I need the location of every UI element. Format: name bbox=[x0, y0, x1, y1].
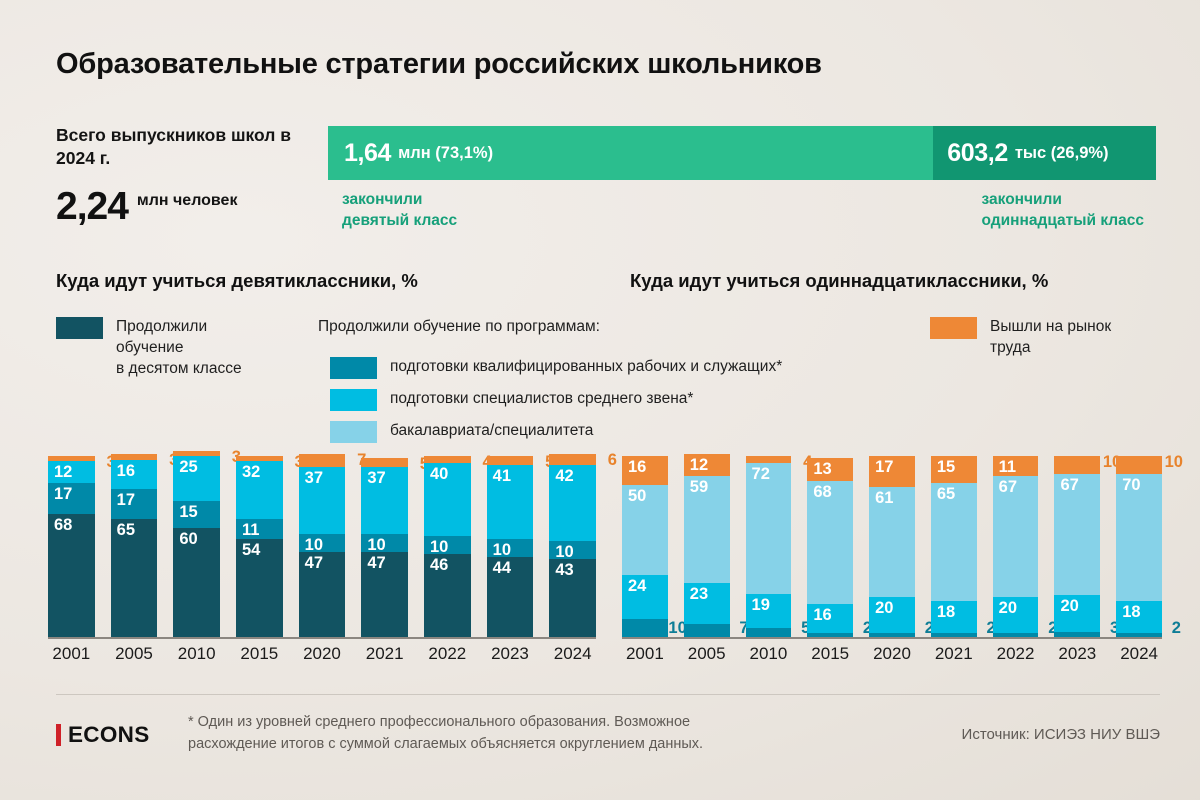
bar-value-label: 12 bbox=[54, 464, 72, 481]
bar-segment: 4 bbox=[424, 456, 471, 463]
bar-segment: 24 bbox=[622, 575, 668, 618]
bar-segment: 16 bbox=[622, 456, 668, 485]
page-title: Образовательные стратегии российских шко… bbox=[56, 48, 822, 81]
bar-grade11-2001: 16502410 bbox=[622, 456, 668, 637]
bar-segment: 32 bbox=[236, 461, 283, 519]
split-bar-segment-grade11: 603,2 тыс (26,9%) bbox=[933, 126, 1156, 180]
bar-segment: 18 bbox=[1116, 601, 1162, 634]
bar-segment: 25 bbox=[173, 456, 220, 501]
chart-grade11: 1650241012592374721951368162176120215651… bbox=[622, 456, 1162, 656]
bar-value-label: 10 bbox=[555, 544, 573, 561]
bar-value-label: 11 bbox=[999, 459, 1016, 476]
bar-segment: 54 bbox=[236, 539, 283, 637]
bar-value-label: 47 bbox=[367, 555, 385, 572]
bar-grade11-2022: 1167202 bbox=[993, 456, 1039, 637]
legend-item-labour: Вышли на рынок труда bbox=[930, 316, 1160, 358]
x-axis-label: 2001 bbox=[48, 644, 95, 664]
bar-segment: 41 bbox=[487, 465, 534, 539]
bar-value-label: 24 bbox=[628, 578, 646, 595]
legend-item-bachelor: бакалавриата/специалитета bbox=[330, 420, 593, 443]
bar-value-label: 59 bbox=[690, 479, 708, 496]
x-axis-label: 2015 bbox=[807, 644, 853, 664]
bar-segment: 10 bbox=[549, 541, 596, 559]
x-axis-label: 2023 bbox=[487, 644, 534, 664]
bar-segment: 17 bbox=[111, 489, 158, 520]
footnote: * Один из уровней среднего профессиональ… bbox=[188, 712, 868, 756]
bar-value-label: 70 bbox=[1122, 477, 1140, 494]
bar-value-label: 23 bbox=[690, 586, 708, 603]
legend-item-midspec: подготовки специалистов среднего звена* bbox=[330, 388, 693, 411]
x-axis-label: 2024 bbox=[549, 644, 596, 664]
bar-segment: 5 bbox=[746, 628, 792, 637]
legend-swatch-midspec bbox=[330, 389, 377, 411]
bar-value-label: 32 bbox=[242, 464, 260, 481]
split-bar-right-value: 603,2 bbox=[947, 139, 1008, 168]
bar-segment: 67 bbox=[1054, 474, 1100, 595]
legend-swatch-bachelor bbox=[330, 421, 377, 443]
legend-swatch-labour bbox=[930, 317, 977, 339]
bar-segment: 50 bbox=[622, 485, 668, 576]
totals-unit: млн человек bbox=[137, 188, 238, 211]
bar-value-label: 72 bbox=[752, 466, 770, 483]
bar-value-label: 10 bbox=[367, 537, 385, 554]
bar-value-label: 2 bbox=[1172, 620, 1181, 637]
bar-segment: 59 bbox=[684, 476, 730, 583]
x-axis-label: 2010 bbox=[746, 644, 792, 664]
bar-segment: 47 bbox=[299, 552, 346, 637]
bar-segment: 5 bbox=[487, 456, 534, 465]
bar-segment: 67 bbox=[993, 476, 1039, 597]
bar-grade11-2015: 1368162 bbox=[807, 458, 853, 637]
bar-value-label: 60 bbox=[179, 531, 197, 548]
legend-label-bachelor: бакалавриата/специалитета bbox=[390, 420, 593, 441]
bar-segment: 2 bbox=[993, 633, 1039, 637]
bar-value-label: 16 bbox=[628, 459, 646, 476]
bar-segment: 7 bbox=[299, 454, 346, 467]
bar-segment: 68 bbox=[807, 481, 853, 604]
split-bar-left-caption: закончили девятый класс bbox=[342, 190, 457, 232]
bar-segment: 10 bbox=[622, 619, 668, 637]
bar-value-label: 13 bbox=[813, 461, 831, 478]
legend-swatch-workers bbox=[330, 357, 377, 379]
bar-segment: 72 bbox=[746, 463, 792, 593]
x-axis-label: 2024 bbox=[1116, 644, 1162, 664]
bar-value-label: 18 bbox=[937, 604, 955, 621]
x-axis-label: 2022 bbox=[424, 644, 471, 664]
chart-grade9-xlabels: 200120052010201520202021202220232024 bbox=[48, 639, 596, 665]
x-axis-label: 2005 bbox=[684, 644, 730, 664]
x-axis-label: 2023 bbox=[1054, 644, 1100, 664]
x-axis-label: 2015 bbox=[236, 644, 283, 664]
bar-value-label: 20 bbox=[875, 600, 893, 617]
bar-segment: 2 bbox=[807, 633, 853, 637]
bar-segment: 37 bbox=[299, 467, 346, 534]
bar-grade11-2005: 1259237 bbox=[684, 454, 730, 637]
bar-segment: 10 bbox=[361, 534, 408, 552]
bar-segment: 23 bbox=[684, 583, 730, 625]
bar-segment: 10 bbox=[1116, 456, 1162, 474]
bar-segment: 37 bbox=[361, 467, 408, 534]
bar-segment: 44 bbox=[487, 557, 534, 637]
bar-value-label: 11 bbox=[242, 522, 259, 539]
totals-label: Всего выпускников школ в 2024 г. bbox=[56, 124, 316, 170]
bar-value-label: 47 bbox=[305, 555, 323, 572]
bar-segment: 17 bbox=[48, 483, 95, 514]
bar-value-label: 65 bbox=[117, 522, 135, 539]
bar-segment: 11 bbox=[993, 456, 1039, 476]
footer-divider bbox=[56, 694, 1160, 695]
bar-segment: 10 bbox=[487, 539, 534, 557]
bar-value-label: 10 bbox=[493, 542, 511, 559]
bar-value-label: 67 bbox=[999, 479, 1017, 496]
source-label: Источник: ИСИЭЗ НИУ ВШЭ bbox=[962, 726, 1160, 743]
bar-segment: 10 bbox=[1054, 456, 1100, 474]
split-bar-right-unit: тыс (26,9%) bbox=[1015, 144, 1109, 163]
totals-number: 2,24 bbox=[56, 188, 128, 225]
bar-segment: 16 bbox=[807, 604, 853, 633]
split-bar-right-caption: закончили одиннадцатый класс bbox=[982, 190, 1144, 232]
bar-segment: 16 bbox=[111, 460, 158, 489]
bar-value-label: 16 bbox=[813, 607, 831, 624]
chart-grade11-plot: 1650241012592374721951368162176120215651… bbox=[622, 456, 1162, 639]
bar-segment: 68 bbox=[48, 514, 95, 637]
bar-value-label: 16 bbox=[117, 463, 135, 480]
x-axis-label: 2021 bbox=[931, 644, 977, 664]
legend-swatch-grade10 bbox=[56, 317, 103, 339]
bar-segment: 15 bbox=[173, 501, 220, 528]
bar-value-label: 10 bbox=[430, 539, 448, 556]
bar-segment: 46 bbox=[424, 554, 471, 637]
bar-grade9-2015: 3321154 bbox=[236, 456, 283, 637]
logo-accent-bar bbox=[56, 724, 61, 746]
bar-value-label: 37 bbox=[367, 470, 385, 487]
x-axis-label: 2022 bbox=[993, 644, 1039, 664]
bar-value-label: 20 bbox=[999, 600, 1017, 617]
bar-value-label: 67 bbox=[1060, 477, 1078, 494]
bar-value-label: 37 bbox=[305, 470, 323, 487]
bar-segment: 43 bbox=[549, 559, 596, 637]
bar-segment: 11 bbox=[236, 519, 283, 539]
bar-segment: 40 bbox=[424, 463, 471, 535]
bar-segment: 17 bbox=[869, 456, 915, 487]
bar-value-label: 46 bbox=[430, 557, 448, 574]
split-bar: 1,64 млн (73,1%) 603,2 тыс (26,9%) bbox=[328, 126, 1156, 180]
bar-segment: 20 bbox=[1054, 595, 1100, 631]
bar-value-label: 40 bbox=[430, 466, 448, 483]
legend-group-header: Продолжили обучение по программам: bbox=[318, 318, 600, 336]
bar-segment: 70 bbox=[1116, 474, 1162, 601]
bar-value-label: 54 bbox=[242, 542, 260, 559]
bar-segment: 42 bbox=[549, 465, 596, 541]
legend-label-workers: подготовки квалифицированных рабочих и с… bbox=[390, 356, 782, 377]
bar-segment: 20 bbox=[869, 597, 915, 633]
bar-grade11-2021: 1565182 bbox=[931, 456, 977, 637]
legend-label-grade10: Продолжили обучение в десятом классе bbox=[116, 316, 242, 379]
bar-value-label: 42 bbox=[555, 468, 573, 485]
infographic-page: Образовательные стратегии российских шко… bbox=[0, 0, 1200, 800]
bar-value-label: 25 bbox=[179, 459, 197, 476]
bar-value-label: 10 bbox=[1165, 454, 1183, 471]
bar-segment: 6 bbox=[549, 454, 596, 465]
bar-segment: 65 bbox=[111, 519, 158, 637]
bar-value-label: 18 bbox=[1122, 604, 1140, 621]
bar-grade11-2024: 1070182 bbox=[1116, 456, 1162, 637]
x-axis-label: 2020 bbox=[869, 644, 915, 664]
bar-value-label: 6 bbox=[608, 452, 617, 469]
econs-logo: ECONS bbox=[56, 722, 150, 748]
bar-value-label: 15 bbox=[179, 504, 197, 521]
bar-grade11-2010: 472195 bbox=[746, 456, 792, 637]
bar-value-label: 10 bbox=[305, 537, 323, 554]
x-axis-label: 2021 bbox=[361, 644, 408, 664]
bar-segment: 20 bbox=[993, 597, 1039, 633]
bar-segment: 19 bbox=[746, 594, 792, 628]
x-axis-label: 2010 bbox=[173, 644, 220, 664]
bar-grade9-2024: 6421043 bbox=[549, 454, 596, 637]
x-axis-label: 2001 bbox=[622, 644, 668, 664]
legend-item-grade10: Продолжили обучение в десятом классе bbox=[56, 316, 306, 379]
bar-grade11-2020: 1761202 bbox=[869, 456, 915, 637]
chart-grade9-plot: 3121768316176532515603321154737104753710… bbox=[48, 456, 596, 639]
bar-segment: 12 bbox=[684, 454, 730, 476]
bar-grade9-2020: 7371047 bbox=[299, 454, 346, 637]
split-bar-segment-grade9: 1,64 млн (73,1%) bbox=[328, 126, 933, 180]
chart-grade11-xlabels: 200120052010201520202021202220232024 bbox=[622, 639, 1162, 665]
bar-segment: 2 bbox=[931, 633, 977, 637]
bar-segment: 2 bbox=[869, 633, 915, 637]
bar-value-label: 17 bbox=[875, 459, 893, 476]
bar-segment: 10 bbox=[299, 534, 346, 552]
bar-grade9-2023: 5411044 bbox=[487, 456, 534, 637]
totals-value-row: 2,24 млн человек bbox=[56, 188, 237, 225]
bar-value-label: 65 bbox=[937, 486, 955, 503]
bar-segment: 10 bbox=[424, 536, 471, 554]
bar-segment: 5 bbox=[361, 458, 408, 467]
bar-value-label: 17 bbox=[117, 492, 135, 509]
logo-text: ECONS bbox=[68, 722, 150, 748]
chart-grade9: 3121768316176532515603321154737104753710… bbox=[48, 456, 596, 656]
section-title-grade9: Куда идут учиться девятиклассники, % bbox=[56, 270, 418, 292]
bar-segment: 47 bbox=[361, 552, 408, 637]
bar-segment: 3 bbox=[1054, 632, 1100, 637]
bar-grade9-2010: 3251560 bbox=[173, 451, 220, 637]
bar-grade9-2005: 3161765 bbox=[111, 454, 158, 637]
x-axis-label: 2020 bbox=[299, 644, 346, 664]
bar-segment: 15 bbox=[931, 456, 977, 483]
section-title-grade11: Куда идут учиться одиннадцатиклассники, … bbox=[630, 270, 1048, 292]
bar-value-label: 17 bbox=[54, 486, 72, 503]
split-bar-left-unit: млн (73,1%) bbox=[398, 144, 493, 163]
bar-value-label: 20 bbox=[1060, 598, 1078, 615]
x-axis-label: 2005 bbox=[111, 644, 158, 664]
bar-segment: 61 bbox=[869, 487, 915, 597]
bar-value-label: 61 bbox=[875, 490, 893, 507]
bar-value-label: 44 bbox=[493, 560, 511, 577]
bar-grade9-2001: 3121768 bbox=[48, 456, 95, 637]
bar-value-label: 50 bbox=[628, 488, 646, 505]
bar-value-label: 19 bbox=[752, 597, 770, 614]
bar-segment: 4 bbox=[746, 456, 792, 463]
bar-value-label: 68 bbox=[54, 517, 72, 534]
bar-segment: 13 bbox=[807, 458, 853, 482]
bar-segment: 65 bbox=[931, 483, 977, 601]
bar-segment: 18 bbox=[931, 601, 977, 634]
bar-segment: 12 bbox=[48, 461, 95, 483]
bar-value-label: 41 bbox=[493, 468, 511, 485]
bar-value-label: 68 bbox=[813, 484, 831, 501]
bar-segment: 60 bbox=[173, 528, 220, 637]
bar-segment: 7 bbox=[684, 624, 730, 637]
legend-label-midspec: подготовки специалистов среднего звена* bbox=[390, 388, 693, 409]
legend-item-workers: подготовки квалифицированных рабочих и с… bbox=[330, 356, 782, 379]
bar-grade9-2021: 5371047 bbox=[361, 458, 408, 637]
bar-value-label: 43 bbox=[555, 562, 573, 579]
split-bar-left-value: 1,64 bbox=[344, 139, 391, 168]
bar-value-label: 12 bbox=[690, 457, 708, 474]
bar-value-label: 15 bbox=[937, 459, 955, 476]
bar-grade9-2022: 4401046 bbox=[424, 456, 471, 637]
bar-grade11-2023: 1067203 bbox=[1054, 456, 1100, 637]
legend-label-labour: Вышли на рынок труда bbox=[990, 316, 1111, 358]
bar-segment: 2 bbox=[1116, 633, 1162, 637]
split-bar-captions: закончили девятый класс закончили одинна… bbox=[328, 190, 1156, 236]
